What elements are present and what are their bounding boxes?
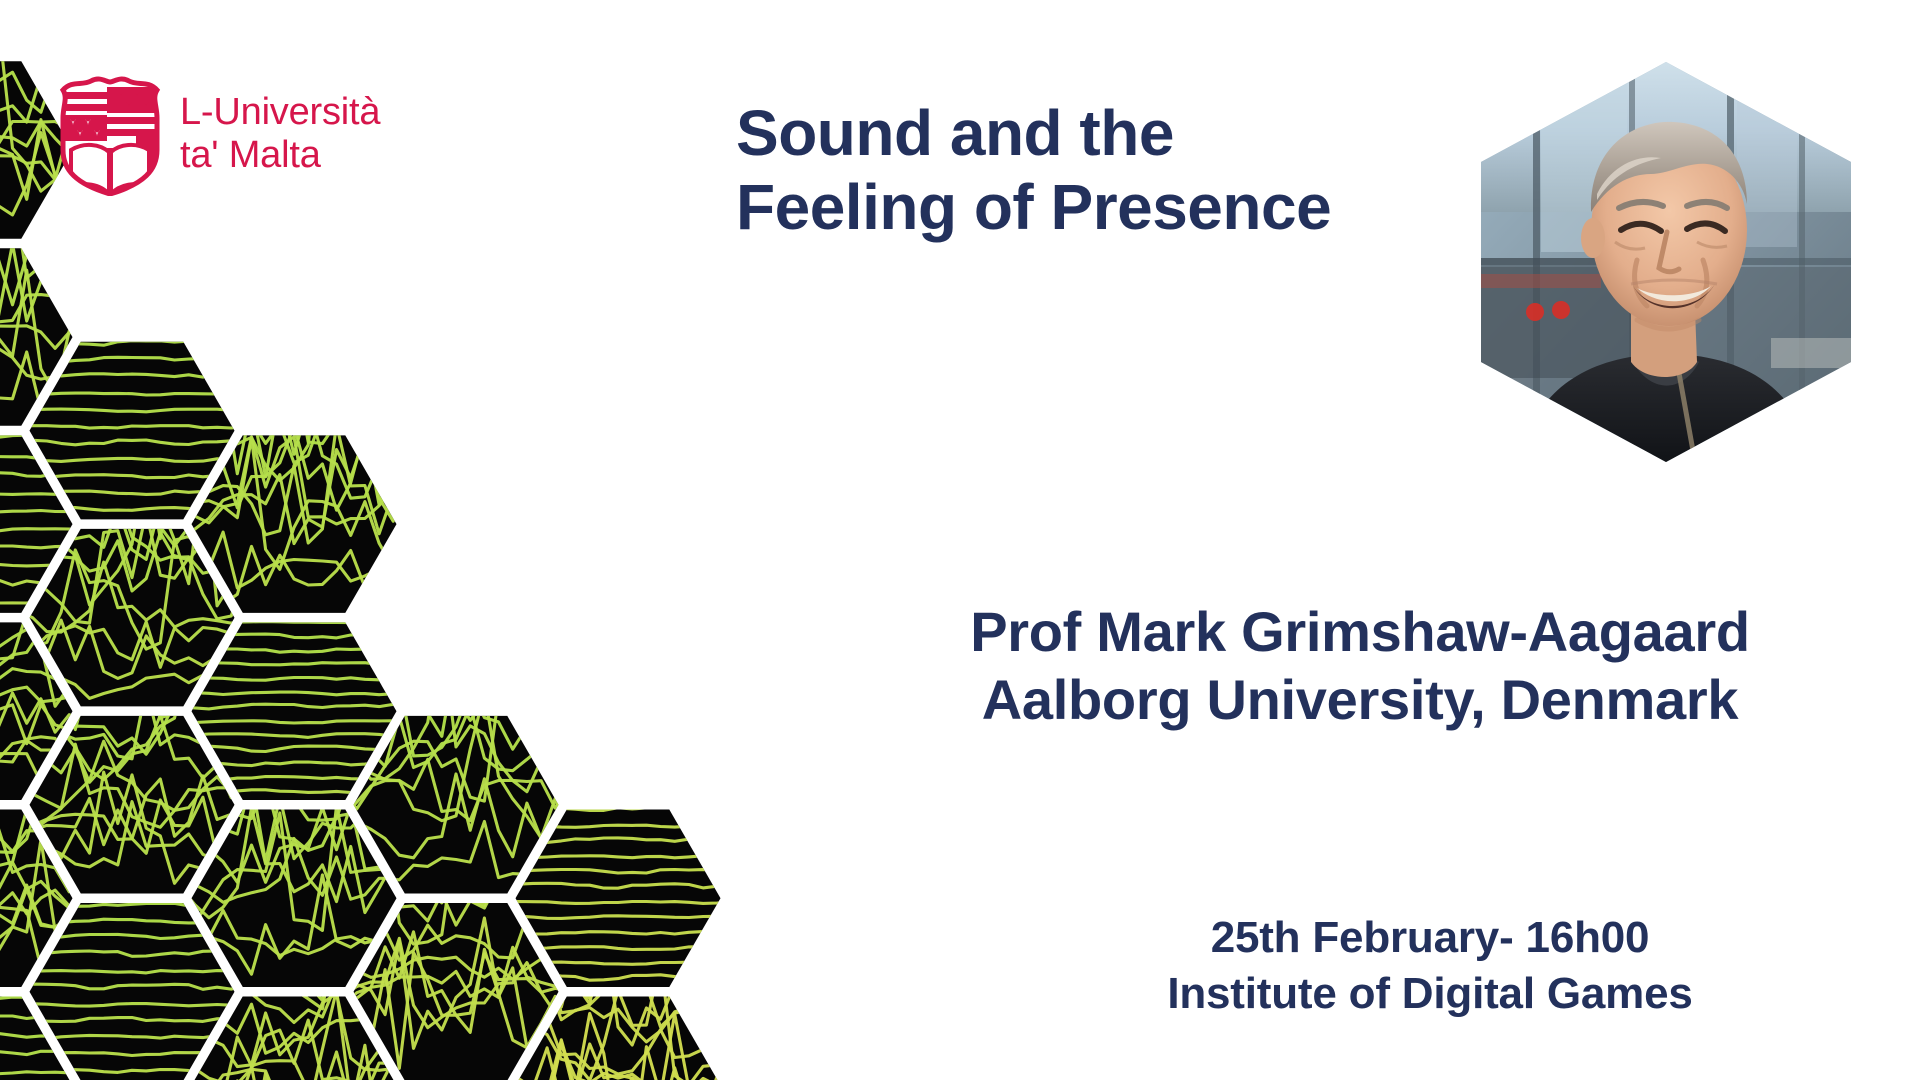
- speaker-portrait: [1481, 62, 1851, 462]
- university-logo-text: L-Università ta' Malta: [180, 91, 380, 176]
- poster-canvas: L-Università ta' Malta Sound and the Fee…: [0, 0, 1920, 1080]
- shield-crest-icon: [58, 72, 162, 196]
- page-title: Sound and the Feeling of Presence: [736, 96, 1476, 244]
- speaker-portrait-image: [1481, 62, 1851, 462]
- speaker-info: Prof Mark Grimshaw-Aagaard Aalborg Unive…: [900, 598, 1820, 735]
- university-logo: L-Università ta' Malta: [58, 72, 380, 196]
- event-details: 25th February- 16h00 Institute of Digita…: [1040, 910, 1820, 1023]
